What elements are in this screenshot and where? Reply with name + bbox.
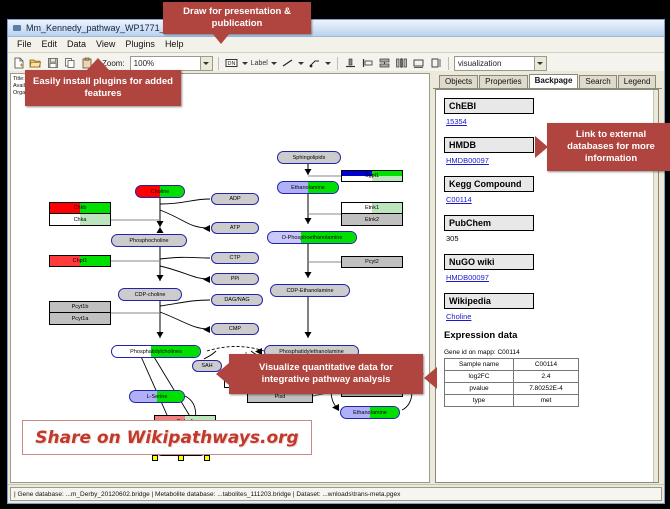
node-label: Pcyt1b xyxy=(72,304,89,310)
gene-node[interactable]: Chkb xyxy=(49,202,111,214)
tab-backpage[interactable]: Backpage xyxy=(529,74,579,88)
node-label: Chkb xyxy=(74,205,87,211)
copy-icon[interactable] xyxy=(62,56,77,71)
tab-objects[interactable]: Objects xyxy=(439,75,478,88)
nugo-wiki-header: NuGO wiki xyxy=(444,254,534,270)
save-icon[interactable] xyxy=(45,56,60,71)
metabolite-node[interactable]: DAG/NAG xyxy=(211,294,263,306)
share-banner: Share on Wikipathways.org xyxy=(22,420,312,455)
toolbar-separator xyxy=(218,57,219,70)
align-top-icon[interactable] xyxy=(343,56,358,71)
title-bar: Mm_Kennedy_pathway_WP1771_45176.gpml xyxy=(8,20,664,37)
metabolite-node[interactable]: Sphingolipids xyxy=(277,151,341,164)
table-row: pvalue 7.80252E-4 xyxy=(445,383,579,395)
node-label: Pcyt1a xyxy=(72,316,89,322)
cell-value: C00114 xyxy=(514,359,579,371)
selection-handle[interactable] xyxy=(204,455,210,461)
metabolite-node[interactable]: Ethanolamine xyxy=(340,406,400,419)
new-icon[interactable] xyxy=(11,56,26,71)
gene-id-line: Gene id on mapp: C00114 xyxy=(444,349,658,356)
zoom-combo[interactable]: 100% xyxy=(130,56,213,71)
visualization-combo[interactable]: visualization xyxy=(454,56,547,71)
gene-node[interactable]: Chpt1 xyxy=(49,255,111,267)
status-text: | Gene database: ...m_Derby_20120602.bri… xyxy=(10,487,662,501)
callout-install-plugins: Easily install plugins for added feature… xyxy=(25,70,181,106)
node-label: Chpt1 xyxy=(73,258,88,264)
expression-data-heading: Expression data xyxy=(444,330,658,341)
line-icon[interactable] xyxy=(280,56,295,71)
node-label: Pisd xyxy=(275,394,286,400)
pubchem-header: PubChem xyxy=(444,215,534,231)
menu-plugins[interactable]: Plugins xyxy=(120,37,160,52)
table-row: log2FC 2.4 xyxy=(445,371,579,383)
size-width-icon[interactable] xyxy=(411,56,426,71)
status-bar: | Gene database: ...m_Derby_20120602.bri… xyxy=(8,484,664,503)
node-label: Phosphatidylcholines xyxy=(130,349,182,355)
cell-value: met xyxy=(514,395,579,407)
size-height-icon[interactable] xyxy=(428,56,443,71)
expression-table: Sample name C00114 log2FC 2.4 pvalue 7.8… xyxy=(444,358,579,407)
metabolite-node[interactable]: CDP-choline xyxy=(118,288,182,301)
open-folder-icon[interactable] xyxy=(28,56,43,71)
metabolite-node[interactable]: CTP xyxy=(211,252,259,264)
gene-node[interactable]: Pcyt1a xyxy=(49,313,111,325)
kegg-compound-header: Kegg Compound xyxy=(444,176,534,192)
metabolite-node[interactable]: Ethanolamine xyxy=(277,181,339,194)
toolbar-separator-2 xyxy=(337,57,338,70)
menu-data[interactable]: Data xyxy=(62,37,91,52)
metabolite-node[interactable]: PPi xyxy=(211,273,259,285)
pubchem-value: 305 xyxy=(446,234,658,243)
callout-arrow-down xyxy=(212,33,230,44)
hmdb-header: HMDB xyxy=(444,137,534,153)
menu-help[interactable]: Help xyxy=(160,37,189,52)
cell-label: pvalue xyxy=(445,383,514,395)
menu-edit[interactable]: Edit xyxy=(37,37,63,52)
chebi-header: ChEBI xyxy=(444,98,534,114)
datanode-dropdown-icon[interactable] xyxy=(241,56,249,70)
table-row: type met xyxy=(445,395,579,407)
node-label: CDP-Ethanolamine xyxy=(286,288,333,294)
menu-file[interactable]: File xyxy=(12,37,37,52)
metabolite-node[interactable]: Phosphatidylcholines xyxy=(111,345,201,358)
callout-arrow-left xyxy=(424,367,437,389)
datanode-icon[interactable]: DN xyxy=(224,56,239,71)
metabolite-node[interactable]: CDP-Ethanolamine xyxy=(270,284,350,297)
node-label: Sphingolipids xyxy=(293,155,326,161)
panel-tabs: Objects Properties Backpage Search Legen… xyxy=(433,73,662,89)
node-label: ADP xyxy=(229,196,240,202)
table-row: Sample name C00114 xyxy=(445,359,579,371)
cell-value: 7.80252E-4 xyxy=(514,383,579,395)
distribute-icon[interactable] xyxy=(394,56,409,71)
node-label: Pcyt2 xyxy=(365,259,379,265)
zoom-value: 100% xyxy=(134,59,154,68)
share-banner-text: Share on Wikipathways.org xyxy=(35,428,298,448)
align-left-icon[interactable] xyxy=(360,56,375,71)
chevron-down-icon-2[interactable] xyxy=(534,57,546,70)
node-label: L-Serine xyxy=(147,394,168,400)
metabolite-node[interactable]: Phosphocholine xyxy=(111,234,187,247)
menu-view[interactable]: View xyxy=(91,37,120,52)
tab-legend[interactable]: Legend xyxy=(618,75,657,88)
node-label: Ethanolamine xyxy=(353,410,387,416)
label-tool-label[interactable]: Label xyxy=(251,60,268,67)
menu-bar: File Edit Data View Plugins Help xyxy=(8,37,664,53)
tab-search[interactable]: Search xyxy=(579,75,616,88)
cell-label: Sample name xyxy=(445,359,514,371)
node-label: Etnk2 xyxy=(365,217,379,223)
gene-node[interactable]: Pcyt2 xyxy=(341,256,403,268)
callout-visualize-data: Visualize quantitative data for integrat… xyxy=(229,354,423,394)
wikipedia-header: Wikipedia xyxy=(444,293,534,309)
callout-external-links: Link to external databases for more info… xyxy=(547,123,670,171)
cell-label: type xyxy=(445,395,514,407)
callout-arrow-right xyxy=(535,136,548,158)
gene-node[interactable]: Etnk2 xyxy=(341,214,403,226)
node-label: CDP-choline xyxy=(135,292,166,298)
metabolite-node[interactable]: CMP xyxy=(211,323,259,335)
callout-draw-publication: Draw for presentation & publication xyxy=(163,2,311,34)
node-label: O-Phosphoethanolamine xyxy=(282,235,343,241)
cell-label: log2FC xyxy=(445,371,514,383)
node-label: DAG/NAG xyxy=(224,297,249,303)
node-label: Chka xyxy=(74,217,87,223)
callout-arrow-left-2 xyxy=(216,363,229,385)
node-label: Ethanolamine xyxy=(291,185,325,191)
node-label: SAH xyxy=(201,363,212,369)
label-dropdown-icon[interactable] xyxy=(270,56,278,70)
align-stack-icon[interactable] xyxy=(377,56,392,71)
interaction-dropdown-icon[interactable] xyxy=(324,56,332,70)
chevron-down-icon[interactable] xyxy=(200,57,212,70)
kegg-compound-link[interactable]: C00114 xyxy=(446,195,658,204)
visualization-value: visualization xyxy=(458,59,502,68)
metabolite-node[interactable]: L-Serine xyxy=(129,390,185,403)
node-label: CTP xyxy=(230,255,241,261)
metabolite-node[interactable]: O-Phosphoethanolamine xyxy=(267,231,357,244)
gene-node[interactable]: Etnk1 xyxy=(341,202,403,214)
wikipedia-link[interactable]: Choline xyxy=(446,312,658,321)
line-dropdown-icon[interactable] xyxy=(297,56,305,70)
node-label: CMP xyxy=(229,326,241,332)
cell-value: 2.4 xyxy=(514,371,579,383)
node-label: PPi xyxy=(231,276,240,282)
nugo-wiki-link[interactable]: HMDB00097 xyxy=(446,273,658,282)
tab-properties[interactable]: Properties xyxy=(479,75,527,88)
callout-arrow-right-2 xyxy=(411,363,424,385)
metabolite-node[interactable]: Choline xyxy=(135,185,185,198)
node-label: Phosphocholine xyxy=(129,238,168,244)
callout-arrow-up xyxy=(87,58,109,70)
svg-text:DN: DN xyxy=(227,61,235,67)
app-icon xyxy=(12,23,22,33)
node-label: Sgpl1 xyxy=(365,173,379,179)
node-label: Etnk1 xyxy=(365,205,379,211)
node-label: Choline xyxy=(151,189,170,195)
gene-node[interactable]: Sgpl1 xyxy=(341,170,403,182)
metabolite-node[interactable]: ADP xyxy=(211,193,259,205)
gene-node[interactable]: Pcyt1b xyxy=(49,301,111,313)
selection-handle[interactable] xyxy=(178,455,184,461)
node-label: ATP xyxy=(230,225,240,231)
selection-handle[interactable] xyxy=(152,455,158,461)
toolbar-separator-3 xyxy=(448,57,449,70)
interaction-icon[interactable] xyxy=(307,56,322,71)
metabolite-node[interactable]: ATP xyxy=(211,222,259,234)
gene-node[interactable]: Chka xyxy=(49,214,111,226)
